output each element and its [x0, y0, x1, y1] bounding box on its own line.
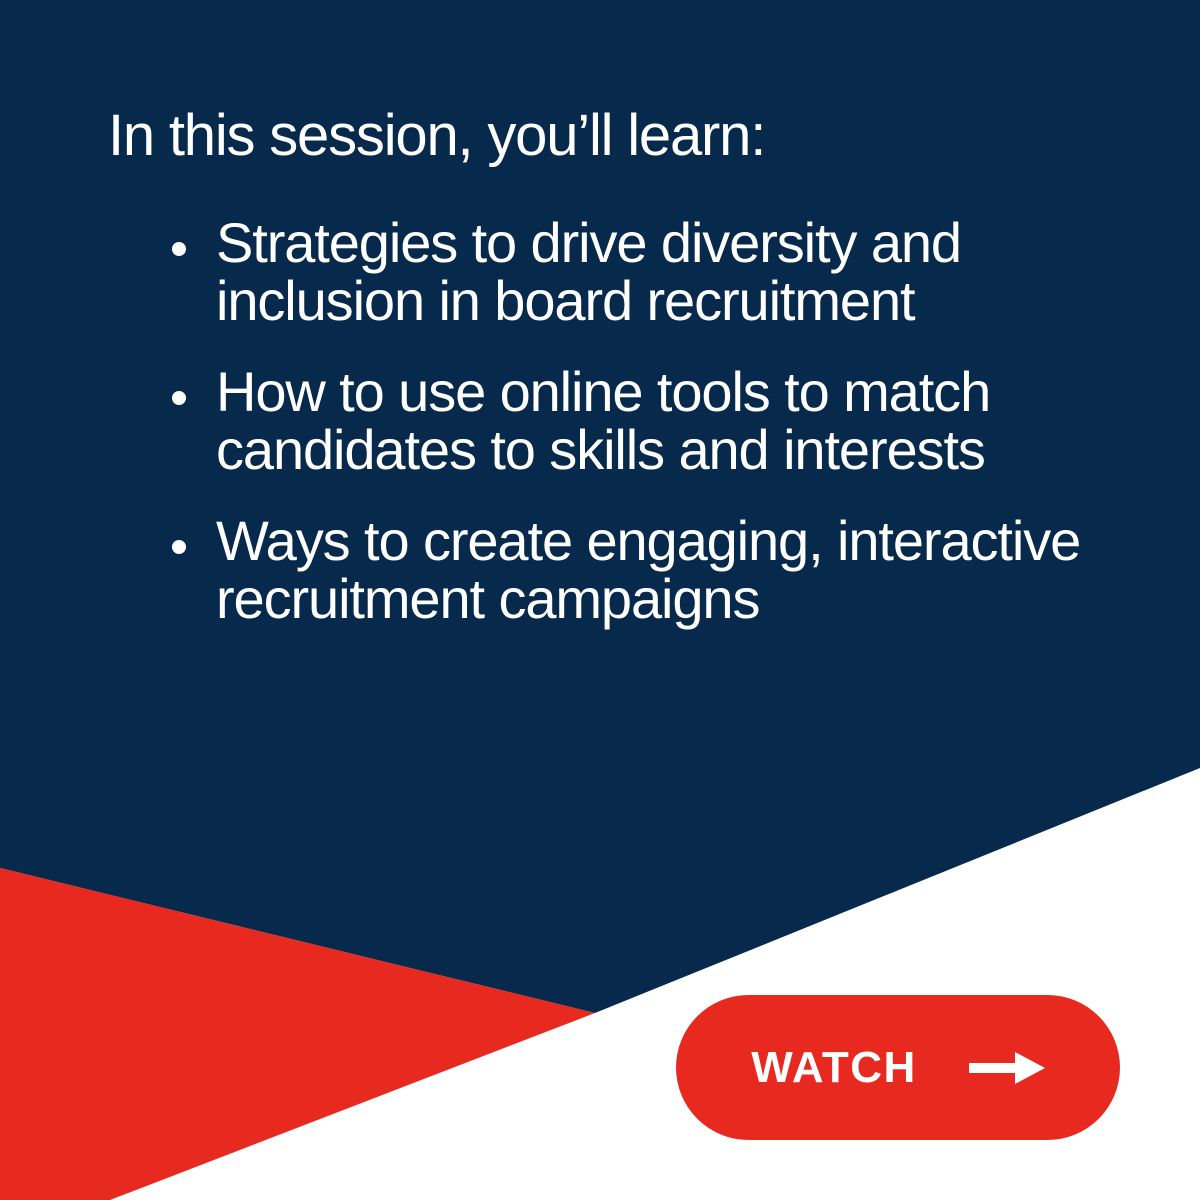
list-item-label: Strategies to drive diversity and inclus…: [216, 214, 1096, 330]
list-item-label: How to use online tools to match candida…: [216, 363, 1096, 479]
arrow-right-icon: [969, 1051, 1045, 1085]
watch-button-label: WATCH: [751, 1046, 917, 1090]
promo-slide: In this session, you’ll learn: Strategie…: [0, 0, 1200, 1200]
bullet-dot-icon: [172, 540, 186, 554]
bullet-dot-icon: [172, 242, 186, 256]
session-learnings-list: Strategies to drive diversity and inclus…: [166, 214, 1096, 628]
list-item: Strategies to drive diversity and inclus…: [166, 214, 1096, 330]
list-item-label: Ways to create engaging, interactive rec…: [216, 512, 1096, 628]
bullet-dot-icon: [172, 391, 186, 405]
watch-button[interactable]: WATCH: [676, 995, 1120, 1140]
page-title: In this session, you’ll learn:: [108, 104, 1008, 168]
list-item: How to use online tools to match candida…: [166, 363, 1096, 479]
list-item: Ways to create engaging, interactive rec…: [166, 512, 1096, 628]
